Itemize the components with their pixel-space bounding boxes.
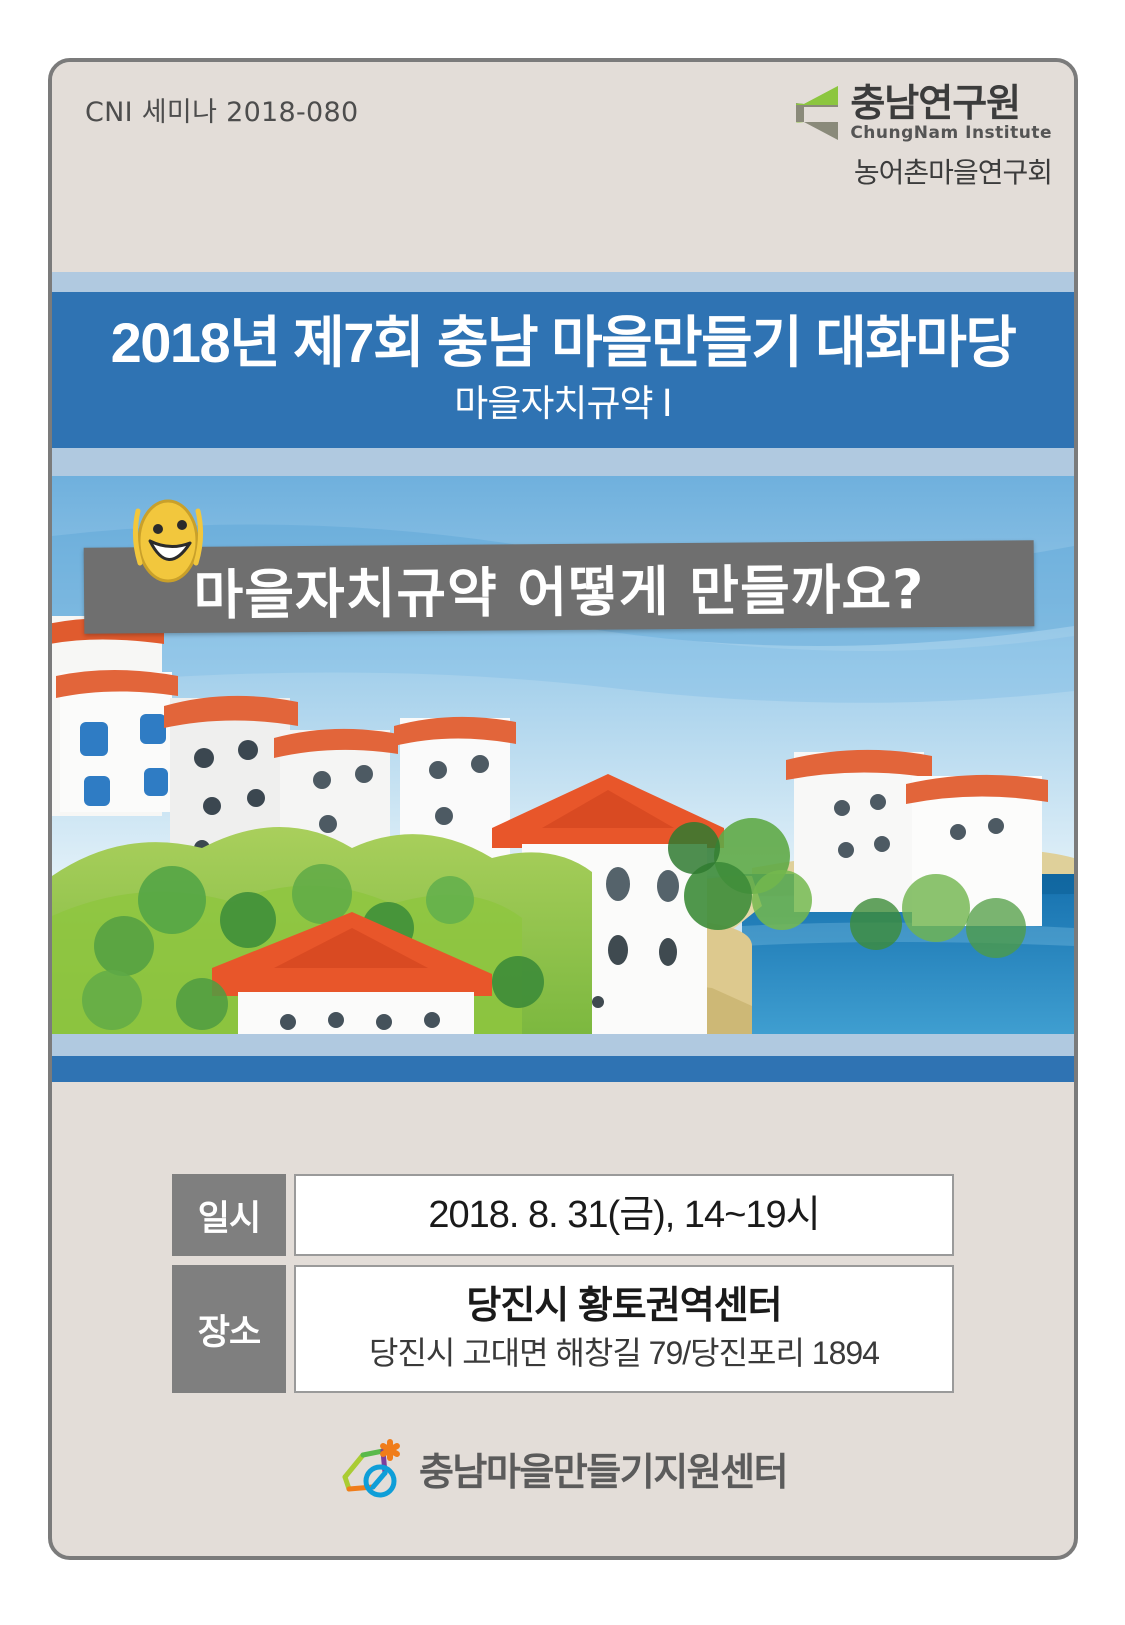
institute-logo-row: 충남연구원 ChungNam Institute [772, 84, 1052, 142]
footer-organization-name: 충남마을만들기지원센터 [419, 1441, 787, 1496]
info-table: 일시 2018. 8. 31(금), 14~19시 장소 당진시 황토권역센터 … [172, 1174, 954, 1393]
chevron-mark-icon [794, 84, 840, 142]
title-band: 2018년 제7회 충남 마을만들기 대화마당 마을자치규약 Ⅰ [52, 292, 1074, 448]
page-title: 2018년 제7회 충남 마을만들기 대화마당 [52, 310, 1074, 376]
info-section: 일시 2018. 8. 31(금), 14~19시 장소 당진시 황토권역센터 … [52, 1082, 1074, 1499]
info-value-place: 당진시 황토권역센터 당진시 고대면 해창길 79/당진포리 1894 [294, 1265, 954, 1393]
venue-address: 당진시 고대면 해창길 79/당진포리 1894 [369, 1333, 879, 1375]
institute-name-en: ChungNam Institute [850, 125, 1052, 142]
table-row: 장소 당진시 황토권역센터 당진시 고대면 해창길 79/당진포리 1894 [172, 1265, 954, 1393]
info-label-place: 장소 [172, 1265, 286, 1393]
band-light-blue-top [52, 272, 1074, 292]
band-light-blue-middle [52, 448, 1074, 476]
illustration-banner-text: 마을자치규약 어떻게 만들까요? [193, 545, 924, 630]
institute-logo-words: 충남연구원 ChungNam Institute [850, 85, 1052, 142]
poster-card: CNI 세미나 2018-080 충남연구원 ChungNam Institut… [48, 58, 1078, 1560]
page-subtitle: 마을자치규약 Ⅰ [52, 382, 1074, 426]
institute-group-name: 농어촌마을연구회 [772, 151, 1052, 191]
event-datetime: 2018. 8. 31(금), 14~19시 [428, 1194, 819, 1238]
info-value-date: 2018. 8. 31(금), 14~19시 [294, 1174, 954, 1256]
band-blue-bottom [52, 1056, 1074, 1082]
footer-logo: 충남마을만들기지원센터 [52, 1437, 1074, 1499]
illustration-banner: 마을자치규약 어떻게 만들까요? [84, 541, 1035, 634]
illustration-area: 마을자치규약 어떻게 만들까요? [52, 476, 1074, 1034]
institute-logo-block: 충남연구원 ChungNam Institute 농어촌마을연구회 [772, 84, 1052, 191]
village-support-center-logo-icon [339, 1437, 405, 1499]
seminar-code: CNI 세미나 2018-080 [85, 90, 359, 129]
table-row: 일시 2018. 8. 31(금), 14~19시 [172, 1174, 954, 1256]
institute-name-kr: 충남연구원 [850, 85, 1052, 123]
band-light-blue-bottom [52, 1034, 1074, 1056]
info-label-date: 일시 [172, 1174, 286, 1256]
poster-header: CNI 세미나 2018-080 충남연구원 ChungNam Institut… [52, 62, 1074, 272]
venue-name: 당진시 황토권역센터 [466, 1285, 781, 1329]
smiley-face-icon [130, 493, 206, 585]
